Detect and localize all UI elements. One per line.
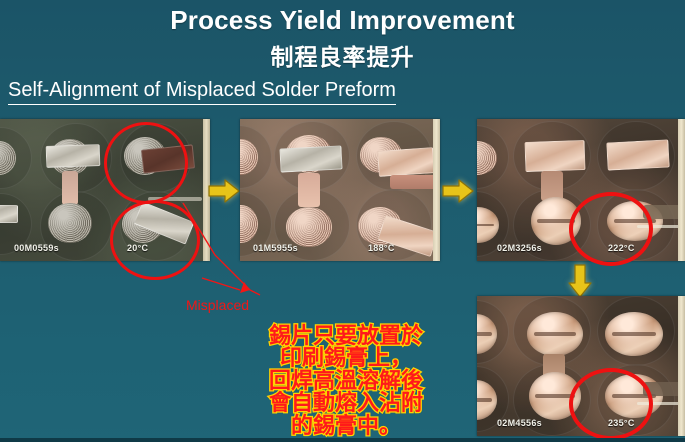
panel-4-stage-label: 02M4556s [497, 418, 542, 428]
highlight-circle-misplaced-bottom [110, 200, 200, 280]
copper-trace [62, 171, 78, 205]
chinese-callout: 錫片只要放置於 印刷錫膏上， 回焊高溫溶解後 會自動熔入沾附 的錫膏中。 [226, 326, 466, 438]
panel-edge-strip [678, 296, 685, 436]
bottom-accent-bar [0, 438, 685, 442]
copper-trace [390, 175, 436, 189]
highlight-circle-aligned-235 [569, 368, 653, 440]
arrow-right-icon [207, 178, 241, 204]
solder-preform-misplaced [377, 147, 435, 177]
callout-line-3: 回焊高溫溶解後 [226, 371, 466, 393]
panel-1-stage-label: 00M0559s [14, 243, 59, 253]
panel-2-stage-label: 01M5955s [253, 243, 298, 253]
page-title: Process Yield Improvement [0, 5, 685, 36]
slide-canvas: Process Yield Improvement 制程良率提升 Self-Al… [0, 0, 685, 442]
reflowed-solder-bump [605, 312, 663, 356]
arrow-down-icon [567, 263, 593, 299]
callout-line-4: 會自動熔入沾附 [226, 393, 466, 415]
arrow-right-icon [441, 178, 475, 204]
panel-2-temperature-label: 188°C [368, 243, 395, 253]
subtitle: Self-Alignment of Misplaced Solder Prefo… [8, 79, 396, 105]
solder-preform [279, 145, 342, 172]
page-title-chinese: 制程良率提升 [0, 38, 685, 72]
solder-paste-dot [48, 203, 92, 243]
callout-line-2: 印刷錫膏上， [226, 348, 466, 370]
copper-trace [298, 173, 320, 207]
highlight-circle-aligned-222 [569, 192, 653, 266]
misplaced-annotation-label: Misplaced [186, 297, 249, 313]
solder-preform-aligned [606, 139, 669, 170]
panel-edge-strip [433, 119, 440, 261]
solder-preform-aligned [524, 140, 585, 172]
solder-paste-dot [286, 207, 332, 247]
solder-preform [46, 144, 101, 168]
panel-3-stage-label: 02M3256s [497, 243, 542, 253]
panel-edge-strip [678, 119, 685, 261]
callout-line-5: 的錫膏中。 [226, 416, 466, 438]
highlight-circle-misplaced-top [104, 122, 188, 204]
solder-preform [0, 205, 18, 223]
photo-panel-2: 01M5955s 188°C [240, 119, 440, 261]
reflowed-solder-bump [527, 312, 583, 356]
